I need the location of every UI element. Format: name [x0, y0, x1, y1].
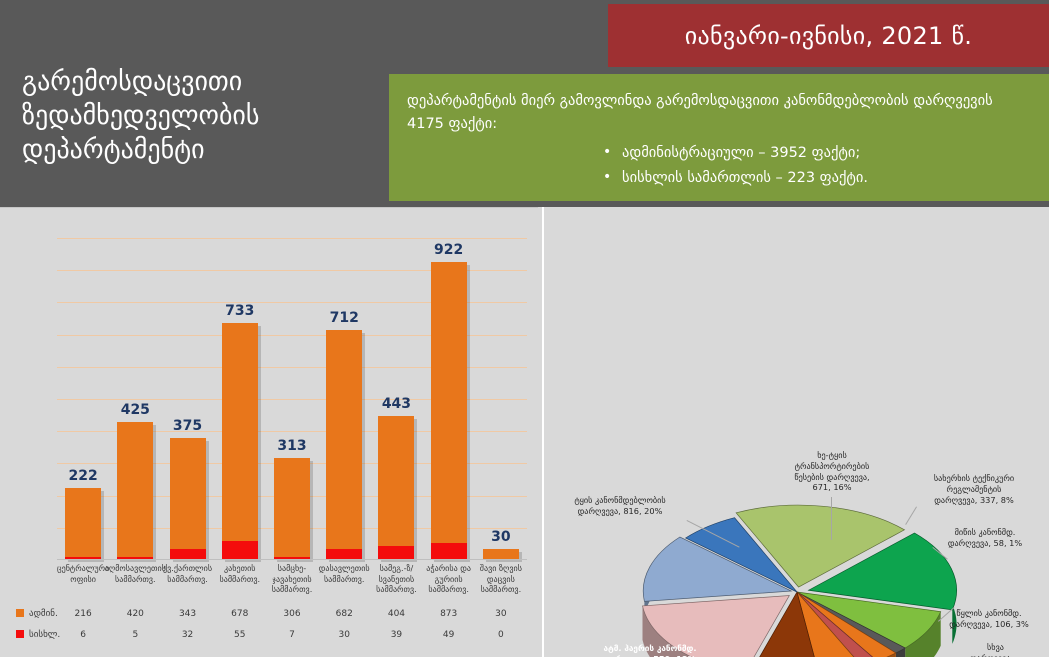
bar-segment-criminal[interactable] — [170, 549, 206, 559]
page-title: გარემოსდაცვითი ზედამხედველობის დეპარტამე… — [22, 66, 372, 167]
summary-bullet-administrative: ადმინისტრაციული – 3952 ფაქტი; — [407, 141, 1029, 166]
pie-slice-label: სახერხის ტექნიკური რეგლამენტის დარღვევა,… — [914, 473, 1034, 505]
bar-value-label: 922 — [414, 242, 484, 258]
pie-leader-line — [831, 497, 832, 540]
pie-chart-panel: ტყის კანონმდებლობის დარღვევა, 816, 20%ხე… — [542, 207, 1049, 657]
summary-bullet-criminal: სისხლის სამართლის – 223 ფაქტი. — [407, 166, 1029, 191]
bar-segment-administrative[interactable] — [431, 262, 467, 543]
pie-slice-label: ხე-ტყის ტრანსპორტირების წესების დარღვევა… — [772, 450, 892, 493]
summary-bullet-list: ადმინისტრაციული – 3952 ფაქტი; სისხლის სა… — [407, 141, 1029, 192]
bar-chart-plot-area: 22242537573331371244392230 — [57, 238, 527, 560]
presentation-slide: გარემოსდაცვითი ზედამხედველობის დეპარტამე… — [0, 0, 1049, 657]
bar-value-label: 425 — [100, 402, 170, 418]
period-badge: იანვარი-ივნისი, 2021 წ. — [608, 4, 1049, 67]
pie-slice-label: ტყის კანონმდებლობის დარღვევა, 816, 20% — [554, 495, 686, 517]
pie-slice-label: სხვა დარღვევა,... — [948, 642, 1043, 657]
bar-segment-administrative[interactable] — [483, 549, 519, 559]
bar-column[interactable] — [483, 549, 519, 559]
bar-value-label: 712 — [309, 310, 379, 326]
gridline — [57, 238, 527, 239]
bar-segment-criminal[interactable] — [431, 543, 467, 559]
table-row: ადმინ.21642034367830668240487330 — [12, 606, 532, 627]
bar-category-label: შავი ზღვის დაცვის სამმართვ. — [470, 563, 532, 595]
bar-chart-category-labels: ცენტრალური ოფისიაღმოსავლეთის სამმართვ.ქვ… — [57, 563, 527, 611]
table-cell: 0 — [470, 630, 532, 640]
legend-swatch — [16, 609, 24, 617]
pie-chart: ტყის კანონმდებლობის დარღვევა, 816, 20%ხე… — [544, 207, 1049, 657]
table-cell: 30 — [470, 609, 532, 619]
pie-slice-label: წყლის კანონმდ. დარღვევა, 106, 3% — [936, 608, 1042, 630]
bar-segment-administrative[interactable] — [117, 422, 153, 557]
bar-segment-criminal[interactable] — [326, 549, 362, 559]
bar-value-label: 313 — [257, 438, 327, 454]
bar-column[interactable] — [378, 416, 414, 559]
bar-column[interactable] — [170, 438, 206, 559]
summary-panel: დეპარტამენტის მიერ გამოვლინდა გარემოსდაც… — [389, 74, 1049, 201]
bar-segment-criminal[interactable] — [378, 546, 414, 559]
bar-segment-administrative[interactable] — [274, 458, 310, 557]
pie-chart-graphic — [544, 207, 1049, 657]
bar-chart-axis — [57, 559, 527, 560]
bar-column[interactable] — [274, 458, 310, 559]
bar-segment-administrative[interactable] — [326, 330, 362, 550]
bar-segment-administrative[interactable] — [378, 416, 414, 546]
bar-segment-administrative[interactable] — [222, 323, 258, 541]
summary-lead-text: დეპარტამენტის მიერ გამოვლინდა გარემოსდაც… — [407, 90, 1029, 136]
bar-value-label: 222 — [48, 468, 118, 484]
bar-value-label: 375 — [153, 418, 223, 434]
bar-value-label: 443 — [361, 396, 431, 412]
bar-chart-panel: 22242537573331371244392230 ცენტრალური ოფ… — [0, 207, 538, 657]
bar-column[interactable] — [431, 262, 467, 559]
bar-column[interactable] — [326, 330, 362, 559]
bar-segment-administrative[interactable] — [65, 488, 101, 558]
table-row: სისხლ.65325573039490 — [12, 627, 532, 648]
bar-column[interactable] — [65, 488, 101, 559]
bar-value-label: 733 — [205, 303, 275, 319]
pie-slice-label: ატმ. ჰაერის კანონმდ. დარღვევა, 559, 13% — [582, 643, 718, 657]
bar-segment-criminal[interactable] — [222, 541, 258, 559]
bar-column[interactable] — [117, 422, 153, 559]
bar-column[interactable] — [222, 323, 258, 559]
bar-segment-administrative[interactable] — [170, 438, 206, 548]
legend-swatch — [16, 630, 24, 638]
pie-slice-label: მიწის კანონმდ. დარღვევა, 58, 1% — [929, 527, 1041, 549]
bar-value-label: 30 — [466, 529, 536, 545]
bar-chart-data-table: ადმინ.21642034367830668240487330 სისხლ.6… — [12, 606, 532, 648]
